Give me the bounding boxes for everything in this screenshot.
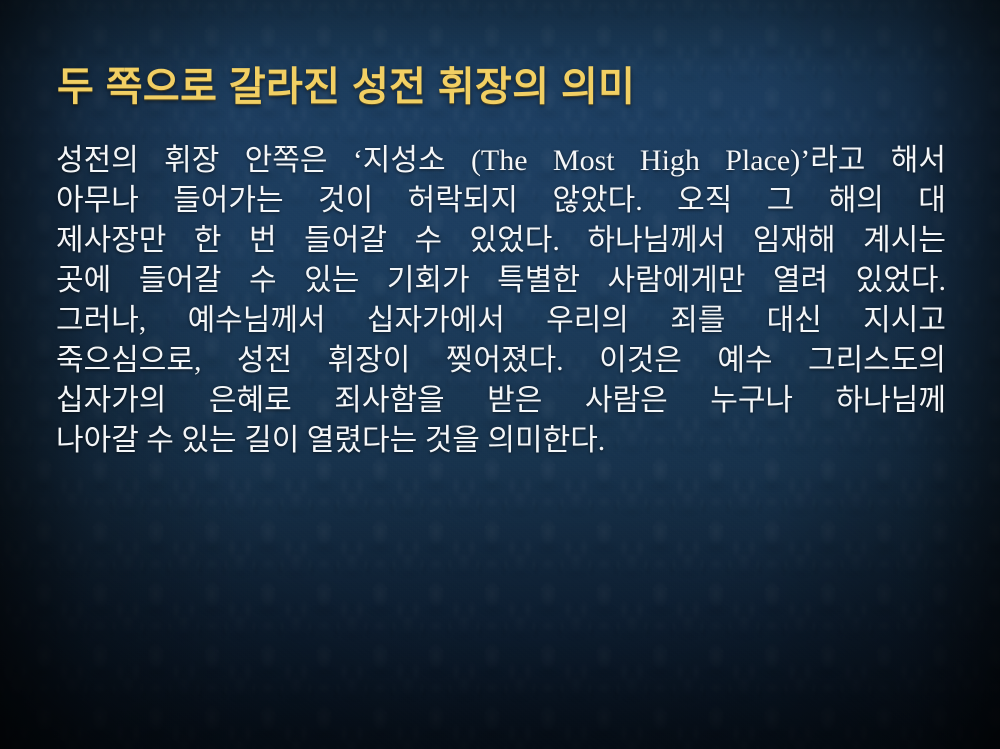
body-text-word: 임재해 bbox=[753, 221, 836, 261]
body-text-word: 죄를 bbox=[670, 301, 725, 341]
body-text-word: 휘장이 bbox=[328, 341, 411, 381]
body-text-word: 받은 bbox=[487, 381, 542, 421]
body-text-word: 열려 bbox=[773, 261, 828, 301]
body-text-word: 대 bbox=[918, 181, 946, 221]
body-text-word: 우리의 bbox=[546, 301, 629, 341]
body-text-word: 번 bbox=[249, 221, 277, 261]
body-text-word: 오직 bbox=[677, 181, 732, 221]
body-text-line: 그러나,예수님께서십자가에서우리의죄를대신지시고 bbox=[56, 301, 946, 341]
body-text-word: 들어가는 bbox=[173, 181, 283, 221]
body-text-word: 아무나 bbox=[56, 181, 139, 221]
body-text-line: 성전의휘장안쪽은‘지성소(TheMostHighPlace)’라고해서 bbox=[56, 141, 946, 181]
body-text-word: 있었다. bbox=[856, 261, 946, 301]
body-text-word: 사람에게만 bbox=[607, 261, 745, 301]
body-text-word: 예수 bbox=[717, 341, 772, 381]
body-text-word: 지시고 bbox=[863, 301, 946, 341]
body-text-word: 그리스도의 bbox=[808, 341, 946, 381]
body-text-word: Most bbox=[553, 141, 615, 181]
body-text-word: 대신 bbox=[767, 301, 822, 341]
body-text-word: 그 bbox=[767, 181, 795, 221]
body-text-word: 들어갈 bbox=[139, 261, 222, 301]
body-text-word: 십자가의 bbox=[56, 381, 166, 421]
body-text-word: 않았다. bbox=[552, 181, 642, 221]
body-text-word: 해서 bbox=[891, 141, 946, 181]
body-text-word: Place)’라고 bbox=[725, 141, 865, 181]
body-text-word: 십자가에서 bbox=[367, 301, 505, 341]
body-text-word: 죄사함을 bbox=[334, 381, 444, 421]
body-text-word: 해의 bbox=[829, 181, 884, 221]
body-text-word: 하나님께 bbox=[836, 381, 946, 421]
slide-content: 두 쪽으로 갈라진 성전 휘장의 의미 성전의휘장안쪽은‘지성소(TheMost… bbox=[0, 0, 1000, 749]
body-text-word: 성전 bbox=[237, 341, 292, 381]
body-text-line: 아무나들어가는것이허락되지않았다.오직그해의대 bbox=[56, 181, 946, 221]
body-text-word: 그러나, bbox=[56, 301, 146, 341]
body-text-word: 누구나 bbox=[710, 381, 793, 421]
body-text-word: 예수님께서 bbox=[188, 301, 326, 341]
body-text-word: 있는 bbox=[304, 261, 359, 301]
body-text-word: 들어갈 bbox=[304, 221, 387, 261]
body-text-line: 십자가의은혜로죄사함을받은사람은누구나하나님께 bbox=[56, 381, 946, 421]
body-text-word: 휘장 bbox=[164, 141, 219, 181]
body-text-word: 계시는 bbox=[863, 221, 946, 261]
body-text-word: High bbox=[640, 141, 700, 181]
body-text-word: 이것은 bbox=[599, 341, 682, 381]
body-text-word: 것이 bbox=[318, 181, 373, 221]
slide-body-text: 성전의휘장안쪽은‘지성소(TheMostHighPlace)’라고해서아무나들어… bbox=[56, 141, 946, 461]
slide-title: 두 쪽으로 갈라진 성전 휘장의 의미 bbox=[57, 64, 957, 110]
body-text-word: ‘지성소 bbox=[353, 141, 446, 181]
body-text-word: 죽으심으로, bbox=[56, 341, 202, 381]
body-text-word: 수 bbox=[249, 261, 277, 301]
body-text-word: 안쪽은 bbox=[245, 141, 328, 181]
body-text-word: 허락되지 bbox=[408, 181, 518, 221]
body-text-word: 기회가 bbox=[387, 261, 470, 301]
body-text-word: (The bbox=[471, 141, 528, 181]
body-text-line: 제사장만한번들어갈수있었다.하나님께서임재해계시는 bbox=[56, 221, 946, 261]
body-text-word: 수 bbox=[414, 221, 442, 261]
body-text-word: 사람은 bbox=[585, 381, 668, 421]
body-text-word: 찢어졌다. bbox=[446, 341, 564, 381]
body-text-word: 곳에 bbox=[56, 261, 111, 301]
body-text-word: 한 bbox=[194, 221, 222, 261]
presentation-slide: 두 쪽으로 갈라진 성전 휘장의 의미 성전의휘장안쪽은‘지성소(TheMost… bbox=[0, 0, 1000, 749]
body-text-word: 은혜로 bbox=[209, 381, 292, 421]
body-text-word: 있었다. bbox=[470, 221, 560, 261]
body-text-word: 특별한 bbox=[497, 261, 580, 301]
body-text-word: 하나님께서 bbox=[587, 221, 725, 261]
body-text-line: 죽으심으로,성전휘장이찢어졌다.이것은예수그리스도의 bbox=[56, 341, 946, 381]
body-text-line: 곳에들어갈수있는기회가특별한사람에게만열려있었다. bbox=[56, 261, 946, 301]
body-text-line: 나아갈 수 있는 길이 열렸다는 것을 의미한다. bbox=[56, 421, 946, 461]
body-text-word: 제사장만 bbox=[56, 221, 166, 261]
body-text-word: 성전의 bbox=[56, 141, 139, 181]
